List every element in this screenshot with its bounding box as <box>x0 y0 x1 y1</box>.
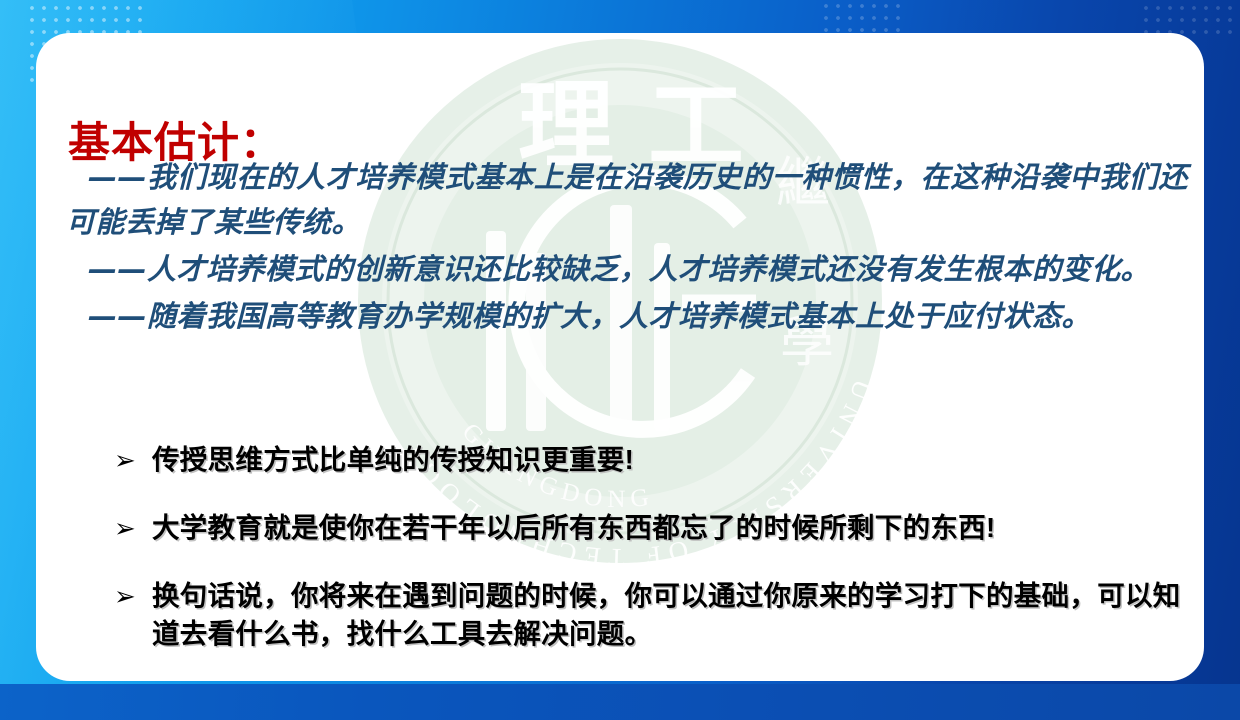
bottom-band-decoration <box>0 684 1240 720</box>
paragraph: ——人才培养模式的创新意识还比较缺乏，人才培养模式还没有发生根本的变化。 <box>66 247 1188 292</box>
paragraph: ——我们现在的人才培养模式基本上是在沿袭历史的一种惯性，在这种沿袭中我们还可能丢… <box>66 155 1188 245</box>
list-item-label: 大学教育就是使你在若干年以后所有东西都忘了的时候所剩下的东西! <box>152 509 1194 547</box>
slide-canvas: UNIVERSITY OF TECHNOLOGY GUANGDONG 理 工 <box>0 0 1240 720</box>
list-item-label: 换句话说，你将来在遇到问题的时候，你可以通过你原来的学习打下的基础，可以知道去看… <box>152 577 1194 653</box>
list-item: ➢ 大学教育就是使你在若干年以后所有东西都忘了的时候所剩下的东西! <box>114 509 1194 547</box>
slide-content-card: UNIVERSITY OF TECHNOLOGY GUANGDONG 理 工 <box>36 33 1204 681</box>
bullet-list: ➢ 传授思维方式比单纯的传授知识更重要! ➢ 大学教育就是使你在若干年以后所有东… <box>114 441 1194 653</box>
list-item: ➢ 传授思维方式比单纯的传授知识更重要! <box>114 441 1194 479</box>
list-item-label: 传授思维方式比单纯的传授知识更重要! <box>152 441 1194 479</box>
arrow-bullet-icon: ➢ <box>114 441 152 479</box>
arrow-bullet-icon: ➢ <box>114 577 152 615</box>
arrow-bullet-icon: ➢ <box>114 509 152 547</box>
paragraph: ——随着我国高等教育办学规模的扩大，人才培养模式基本上处于应付状态。 <box>66 294 1188 339</box>
paragraph-block: ——我们现在的人才培养模式基本上是在沿袭历史的一种惯性，在这种沿袭中我们还可能丢… <box>66 155 1188 341</box>
list-item: ➢ 换句话说，你将来在遇到问题的时候，你可以通过你原来的学习打下的基础，可以知道… <box>114 577 1194 653</box>
slide-body: 基本估计： ——我们现在的人才培养模式基本上是在沿袭历史的一种惯性，在这种沿袭中… <box>36 33 1204 681</box>
